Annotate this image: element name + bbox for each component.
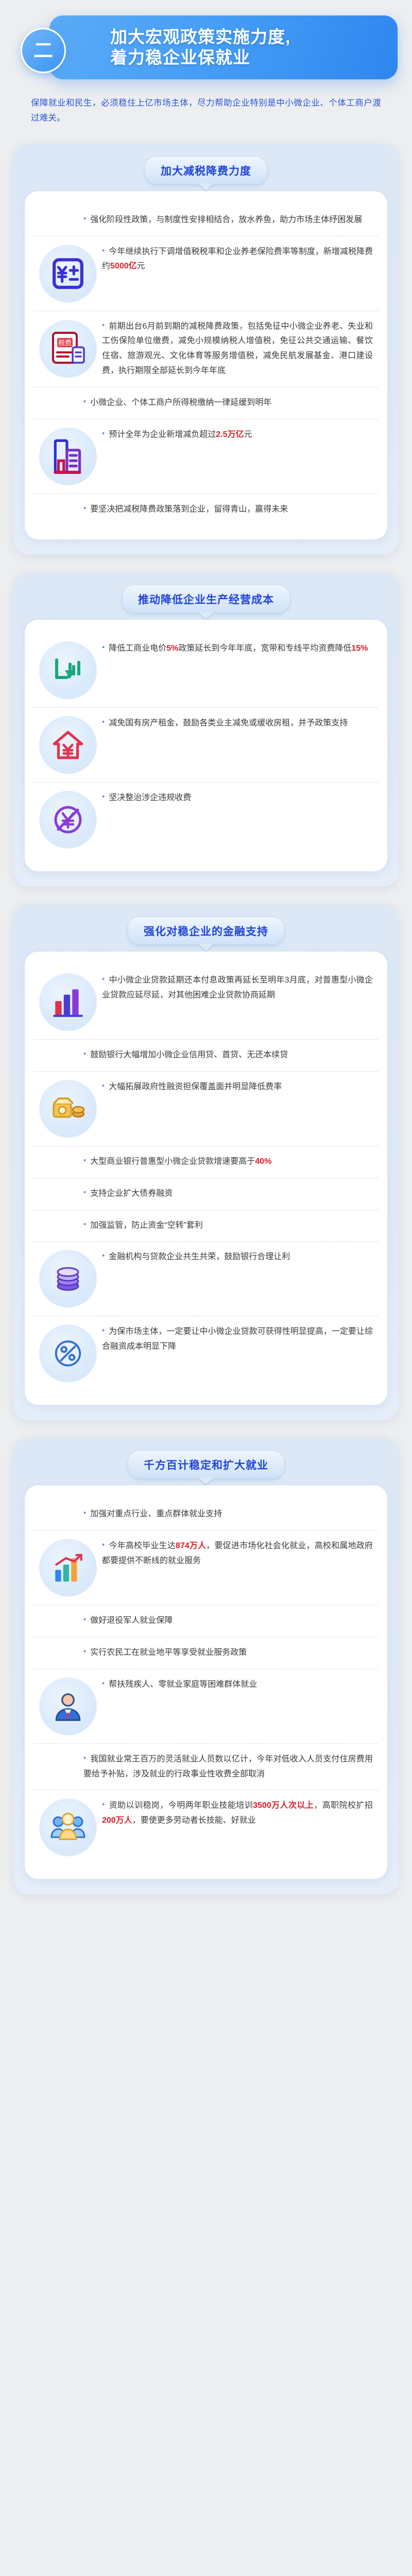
policy-item: 今年高校毕业生达874万人，要促进市场化社会化就业，高校和属地政府都要提供不断线…	[34, 1530, 378, 1605]
bank-chart-icon	[39, 973, 97, 1031]
bullet-text: 今年高校毕业生达874万人，要促进市场化社会化就业，高校和属地政府都要提供不断线…	[102, 1541, 373, 1565]
policy-section: 千方百计稳定和扩大就业加强对重点行业、重点群体就业支持 今年高校毕业生达874万…	[13, 1438, 399, 1894]
bullet-text-part: 我国就业常王百万的灵活就业人员数以亿计，今年对低收入人员支付住房费用要给予补贴，…	[83, 1755, 373, 1778]
bullet-text: 鼓励银行大幅增加小微企业信用贷、首贷、无还本续贷	[90, 1050, 288, 1059]
section-title-label: 千方百计稳定和扩大就业	[144, 1460, 268, 1471]
section-card: 降低工商业电价5%政策延长到今年年底，宽带和专线平均资费降低15% 减免国有房产…	[25, 620, 387, 871]
bullet-text-part: 元	[244, 430, 252, 439]
policy-item-text: 坚决整治涉企违规收费	[102, 791, 375, 806]
bullet-text: 今年继续执行下调增值税税率和企业养老保险费率等制度，新增减税降费约5000亿元	[102, 247, 373, 271]
page-bottom-spacer	[0, 1894, 412, 1919]
worker-icon	[39, 1677, 97, 1735]
bullet-text: 我国就业常王百万的灵活就业人员数以亿计，今年对低收入人员支付住房费用要给予补贴，…	[83, 1755, 373, 1778]
policy-item-text: 加强监管，防止资金“空转”套利	[83, 1218, 375, 1233]
bullet-text-part: 为保市场主体，一定要让中小微企业贷款可获得性明显提高，一定要让综合融资成本明显下…	[102, 1327, 373, 1351]
bullet-text: 小微企业、个体工商户所得税缴纳一律延缓到明年	[90, 398, 271, 407]
bullet-text-part: 强化阶段性政策，与制度性安排相结合，放水养鱼，助力市场主体纾困发展	[90, 215, 362, 224]
section-card: 加强对重点行业、重点群体就业支持 今年高校毕业生达874万人，要促进市场化社会化…	[25, 1485, 387, 1879]
bullet-text-part: 中小微企业贷款延期还本付息政策再延长至明年3月底，对普惠型小微企业贷款应延尽延，…	[102, 976, 373, 999]
section-notch	[198, 944, 214, 951]
bullet-text-part: 今年高校毕业生达	[109, 1541, 176, 1550]
people-group-icon	[39, 1799, 97, 1856]
bullet-text: 强化阶段性政策，与制度性安排相结合，放水养鱼，助力市场主体纾困发展	[90, 215, 362, 224]
policy-item: 中小微企业贷款延期还本付息政策再延长至明年3月底，对普惠型小微企业贷款应延尽延，…	[34, 965, 378, 1039]
icon-slot	[34, 428, 102, 485]
policy-item-text: 我国就业常王百万的灵活就业人员数以亿计，今年对低收入人员支付住房费用要给予补贴，…	[83, 1752, 375, 1782]
section-title-4: 千方百计稳定和扩大就业	[128, 1451, 284, 1478]
policy-section: 强化对稳企业的金融支持 中小微企业贷款延期还本付息政策再延长至明年3月底，对普惠…	[13, 904, 399, 1420]
bullet-text-part: 小微企业、个体工商户所得税缴纳一律延缓到明年	[90, 398, 271, 407]
bullet-text-part: 加强对重点行业、重点群体就业支持	[90, 1510, 222, 1518]
icon-slot	[34, 641, 102, 699]
policy-item: 鼓励银行大幅增加小微企业信用贷、首贷、无还本续贷	[34, 1039, 378, 1071]
policy-item-text: 金融机构与贷款企业共生共荣，鼓励银行合理让利	[102, 1250, 375, 1265]
bullet-text: 加强监管，防止资金“空转”套利	[90, 1221, 203, 1230]
highlight-value: 200万人	[102, 1816, 132, 1825]
house-yuan-icon	[39, 716, 97, 774]
policy-item: 为保市场主体，一定要让中小微企业贷款可获得性明显提高，一定要让综合融资成本明显下…	[34, 1316, 378, 1391]
policy-item-text: 做好退役军人就业保障	[83, 1614, 375, 1629]
bullet-text-part: 支持企业扩大债券融资	[90, 1189, 173, 1198]
money-bag-icon	[39, 1080, 97, 1138]
policy-item-text: 实行农民工在就业地平等享受就业服务政策	[83, 1646, 375, 1660]
policy-item-text: 前期出台6月前到期的减税降费政策，包括免征中小微企业养老、失业和工伤保险单位缴费…	[102, 319, 375, 379]
svg-text:税费: 税费	[58, 340, 72, 347]
section-title-1: 加大减税降费力度	[145, 157, 267, 184]
bullet-text: 前期出台6月前到期的减税降费政策，包括免征中小微企业养老、失业和工伤保险单位缴费…	[102, 322, 373, 375]
section-notch	[198, 183, 214, 191]
icon-slot	[34, 245, 102, 302]
header-banner: 加大宏观政策实施力度, 着力稳企业保就业	[49, 15, 398, 79]
icon-slot: 税费	[34, 320, 102, 378]
policy-item-text: 为保市场主体，一定要让中小微企业贷款可获得性明显提高，一定要让综合融资成本明显下…	[102, 1325, 375, 1354]
policy-item-text: 强化阶段性政策，与制度性安排相结合，放水养鱼，助力市场主体纾困发展	[83, 213, 375, 228]
policy-section: 推动降低企业生产经营成本 降低工商业电价5%政策延长到今年年底，宽带和专线平均资…	[13, 572, 399, 887]
policy-item-text: 加强对重点行业、重点群体就业支持	[83, 1507, 375, 1522]
section-number-label: 二	[33, 41, 53, 60]
policy-item-text: 今年继续执行下调增值税税率和企业养老保险费率等制度，新增减税降费约5000亿元	[102, 245, 375, 275]
bullet-text: 实行农民工在就业地平等享受就业服务政策	[90, 1648, 247, 1657]
section-title-label: 强化对稳企业的金融支持	[144, 926, 268, 938]
tax-document-icon: 税费	[39, 320, 97, 378]
highlight-value: 874万人	[176, 1541, 206, 1550]
policy-item-text: 资助以训稳岗，今明两年职业技能培训3500万人次以上，高职院校扩招200万人，要…	[102, 1799, 375, 1828]
highlight-value: 15%	[351, 644, 368, 653]
policy-item-text: 鼓励银行大幅增加小微企业信用贷、首贷、无还本续贷	[83, 1048, 375, 1063]
highlight-value: 5000亿	[110, 262, 137, 270]
icon-slot	[34, 716, 102, 774]
section-notch	[198, 612, 214, 619]
bullet-text-part: 减免国有房产租金，鼓励各类业主减免或缓收房租，并予政策支持	[109, 719, 348, 727]
highlight-value: 2.5万亿	[216, 430, 244, 439]
policy-item-text: 小微企业、个体工商户所得税缴纳一律延缓到明年	[83, 396, 375, 411]
bullet-text: 降低工商业电价5%政策延长到今年年底，宽带和专线平均资费降低15%	[109, 644, 368, 653]
policy-item: 预计全年为企业新增减负超过2.5万亿元	[34, 419, 378, 494]
bullet-text-part: 加强监管，防止资金“空转”套利	[90, 1221, 203, 1230]
calculator-yuan-icon	[39, 245, 97, 302]
page-title-line2: 着力稳企业保就业	[110, 47, 290, 68]
highlight-value: 3500万人次以上	[253, 1801, 314, 1810]
bullet-text-part: 做好退役军人就业保障	[90, 1616, 173, 1625]
bullet-text-part: 降低工商业电价	[109, 644, 166, 653]
policy-item: 实行农民工在就业地平等享受就业服务政策	[34, 1637, 378, 1669]
policy-item: 大幅拓展政府性融资担保覆盖面并明显降低费率	[34, 1071, 378, 1146]
icon-slot	[34, 1325, 102, 1382]
bullet-text-part: 金融机构与贷款企业共生共荣，鼓励银行合理让利	[109, 1252, 290, 1261]
no-fee-icon	[39, 791, 97, 849]
bullet-text-part: 坚决整治涉企违规收费	[109, 793, 191, 802]
bullet-text: 做好退役军人就业保障	[90, 1616, 173, 1625]
icon-slot	[34, 1080, 102, 1138]
policy-item: 支持企业扩大债券融资	[34, 1178, 378, 1210]
policy-item: 做好退役军人就业保障	[34, 1605, 378, 1637]
policy-item-text: 大型商业银行普惠型小微企业贷款增速要高于40%	[83, 1155, 375, 1170]
growth-chart-icon	[39, 1539, 97, 1597]
bullet-text-part: 实行农民工在就业地平等享受就业服务政策	[90, 1648, 247, 1657]
policy-item: 加强监管，防止资金“空转”套利	[34, 1210, 378, 1242]
icon-slot	[34, 1539, 102, 1597]
bullet-text: 减免国有房产租金，鼓励各类业主减免或缓收房租，并予政策支持	[109, 719, 348, 727]
section-card: 强化阶段性政策，与制度性安排相结合，放水养鱼，助力市场主体纾困发展 今年继续执行…	[25, 191, 387, 540]
highlight-value: 40%	[255, 1157, 271, 1166]
page-header: 加大宏观政策实施力度, 着力稳企业保就业 二	[0, 0, 412, 88]
bullet-text: 坚决整治涉企违规收费	[109, 793, 191, 802]
bullet-text-part: 元	[137, 262, 145, 270]
section-notch	[198, 1478, 214, 1485]
policy-item: 要坚决把减税降费政策落到企业，留得青山，赢得未来	[34, 494, 378, 526]
bullet-text-part: ，高职院校扩招	[314, 1801, 373, 1810]
policy-item-text: 今年高校毕业生达874万人，要促进市场化社会化就业，高校和属地政府都要提供不断线…	[102, 1539, 375, 1569]
policy-item: 帮扶残疾人、零就业家庭等困难群体就业	[34, 1669, 378, 1743]
policy-item: 今年继续执行下调增值税税率和企业养老保险费率等制度，新增减税降费约5000亿元	[34, 236, 378, 311]
bullet-text: 资助以训稳岗，今明两年职业技能培训3500万人次以上，高职院校扩招200万人，要…	[102, 1801, 373, 1825]
policy-item: 税费 前期出台6月前到期的减税降费政策，包括免征中小微企业养老、失业和工伤保险单…	[34, 311, 378, 387]
bullet-text-part: 大型商业银行普惠型小微企业贷款增速要高于	[90, 1157, 255, 1166]
coins-stack-icon	[39, 1250, 97, 1308]
policy-item-text: 要坚决把减税降费政策落到企业，留得青山，赢得未来	[83, 502, 375, 517]
bullet-text: 大幅拓展政府性融资担保覆盖面并明显降低费率	[109, 1082, 282, 1091]
policy-section: 加大减税降费力度强化阶段性政策，与制度性安排相结合，放水养鱼，助力市场主体纾困发…	[13, 144, 399, 555]
bullet-text: 支持企业扩大债券融资	[90, 1189, 173, 1198]
arrow-down-chart-icon	[39, 641, 97, 699]
bullet-text-part: 帮扶残疾人、零就业家庭等困难群体就业	[109, 1680, 257, 1689]
bullet-text: 为保市场主体，一定要让中小微企业贷款可获得性明显提高，一定要让综合融资成本明显下…	[102, 1327, 373, 1351]
section-title-label: 推动降低企业生产经营成本	[138, 594, 274, 606]
sections-container: 加大减税降费力度强化阶段性政策，与制度性安排相结合，放水养鱼，助力市场主体纾困发…	[0, 144, 412, 1895]
bullet-text: 预计全年为企业新增减负超过2.5万亿元	[109, 430, 252, 439]
section-title-2: 推动降低企业生产经营成本	[123, 586, 289, 613]
policy-item: 强化阶段性政策，与制度性安排相结合，放水养鱼，助力市场主体纾困发展	[34, 205, 378, 236]
percent-circle-icon	[39, 1325, 97, 1382]
bullet-text: 帮扶残疾人、零就业家庭等困难群体就业	[109, 1680, 257, 1689]
policy-item: 金融机构与贷款企业共生共荣，鼓励银行合理让利	[34, 1241, 378, 1316]
policy-item: 减免国有房产租金，鼓励各类业主减免或缓收房租，并予政策支持	[34, 707, 378, 782]
bullet-text-part: 前期出台6月前到期的减税降费政策，包括免征中小微企业养老、失业和工伤保险单位缴费…	[102, 322, 373, 375]
bullet-text: 中小微企业贷款延期还本付息政策再延长至明年3月底，对普惠型小微企业贷款应延尽延，…	[102, 976, 373, 999]
bullet-text-part: 预计全年为企业新增减负超过	[109, 430, 216, 439]
bullet-text-part: ，要使更多劳动者长技能、好就业	[132, 1816, 256, 1825]
page-title: 加大宏观政策实施力度, 着力稳企业保就业	[110, 27, 290, 69]
bullet-text-part: 大幅拓展政府性融资担保覆盖面并明显降低费率	[109, 1082, 282, 1091]
icon-slot	[34, 1250, 102, 1308]
section-card: 中小微企业贷款延期还本付息政策再延长至明年3月底，对普惠型小微企业贷款应延尽延，…	[25, 952, 387, 1405]
policy-item: 小微企业、个体工商户所得税缴纳一律延缓到明年	[34, 387, 378, 419]
icon-slot	[34, 1677, 102, 1735]
icon-slot	[34, 973, 102, 1031]
policy-item: 降低工商业电价5%政策延长到今年年底，宽带和专线平均资费降低15%	[34, 633, 378, 707]
policy-item-text: 大幅拓展政府性融资担保覆盖面并明显降低费率	[102, 1080, 375, 1095]
section-title-label: 加大减税降费力度	[161, 165, 251, 177]
policy-item: 加强对重点行业、重点群体就业支持	[34, 1499, 378, 1530]
policy-item-text: 帮扶残疾人、零就业家庭等困难群体就业	[102, 1677, 375, 1692]
bullet-text-part: 鼓励银行大幅增加小微企业信用贷、首贷、无还本续贷	[90, 1050, 288, 1059]
bullet-text-part: 要坚决把减税降费政策落到企业，留得青山，赢得未来	[90, 505, 288, 514]
policy-item-text: 降低工商业电价5%政策延长到今年年底，宽带和专线平均资费降低15%	[102, 641, 375, 656]
bullet-text: 要坚决把减税降费政策落到企业，留得青山，赢得未来	[90, 505, 288, 514]
bullet-text-part: 政策延长到今年年底，宽带和专线平均资费降低	[178, 644, 351, 653]
page-title-line1: 加大宏观政策实施力度,	[110, 27, 290, 47]
highlight-value: 5%	[166, 644, 178, 653]
bullet-text: 加强对重点行业、重点群体就业支持	[90, 1510, 222, 1518]
intro-paragraph: 保障就业和民生，必须稳住上亿市场主体，尽力帮助企业特别是中小微企业、个体工商户渡…	[31, 96, 381, 126]
policy-item: 资助以训稳岗，今明两年职业技能培训3500万人次以上，高职院校扩招200万人，要…	[34, 1790, 378, 1865]
policy-item: 坚决整治涉企违规收费	[34, 782, 378, 857]
icon-slot	[34, 791, 102, 849]
policy-item: 我国就业常王百万的灵活就业人员数以亿计，今年对低收入人员支付住房费用要给予补贴，…	[34, 1743, 378, 1790]
policy-item-text: 预计全年为企业新增减负超过2.5万亿元	[102, 428, 375, 443]
policy-item-text: 中小微企业贷款延期还本付息政策再延长至明年3月底，对普惠型小微企业贷款应延尽延，…	[102, 973, 375, 1003]
bullet-text: 金融机构与贷款企业共生共荣，鼓励银行合理让利	[109, 1252, 290, 1261]
policy-item-text: 减免国有房产租金，鼓励各类业主减免或缓收房租，并予政策支持	[102, 716, 375, 731]
icon-slot	[34, 1799, 102, 1856]
bullet-text: 大型商业银行普惠型小微企业贷款增速要高于40%	[90, 1157, 271, 1166]
policy-item: 大型商业银行普惠型小微企业贷款增速要高于40%	[34, 1146, 378, 1178]
building-chart-icon	[39, 428, 97, 485]
policy-item-text: 支持企业扩大债券融资	[83, 1187, 375, 1201]
section-title-3: 强化对稳企业的金融支持	[128, 918, 284, 944]
bullet-text-part: 资助以训稳岗，今明两年职业技能培训	[109, 1801, 253, 1810]
section-number-badge: 二	[21, 28, 66, 73]
